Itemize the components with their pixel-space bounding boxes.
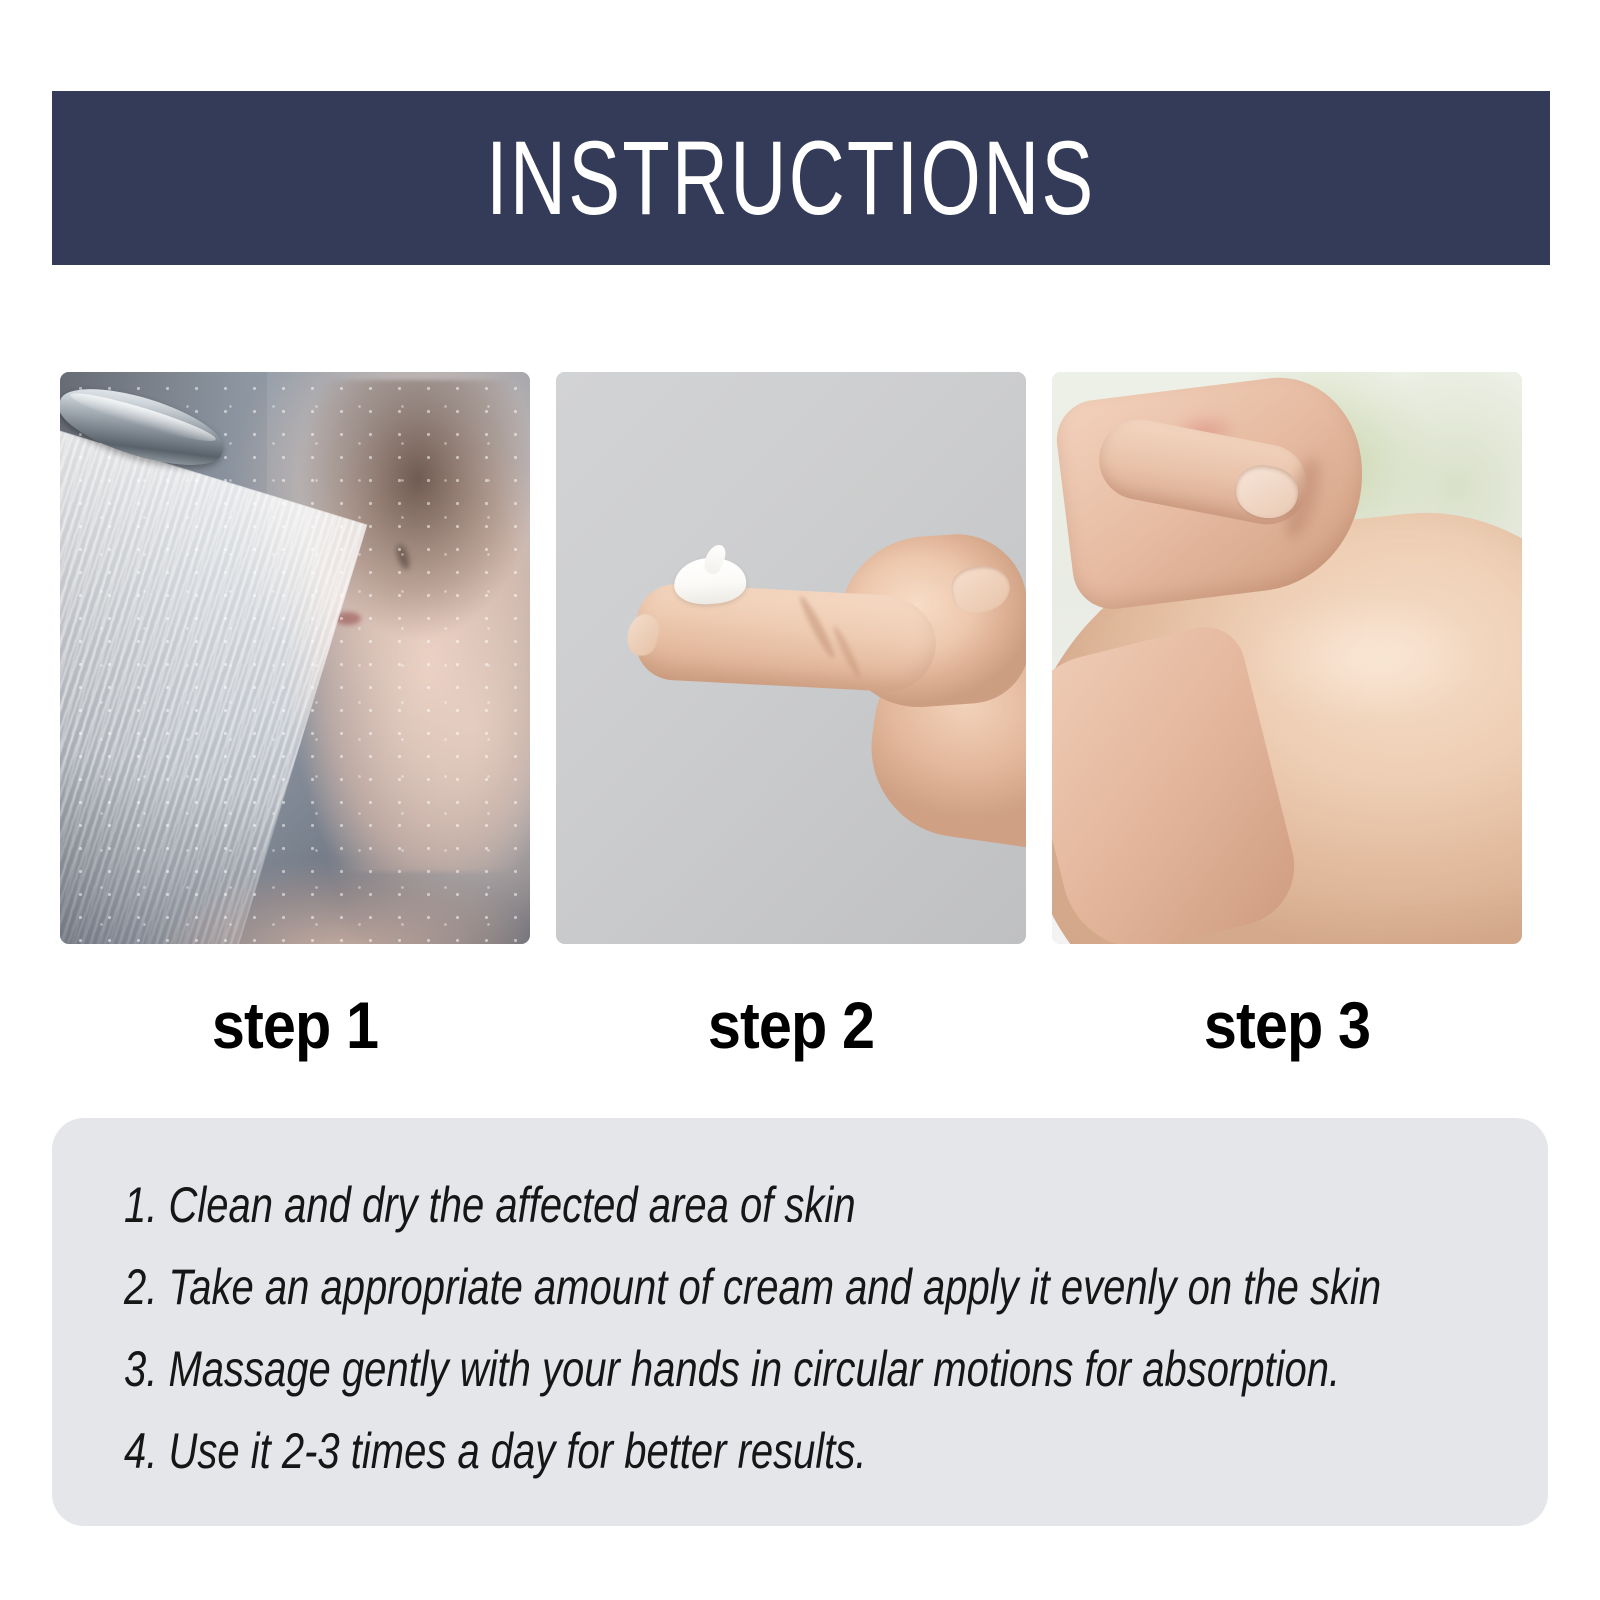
- instructions-infographic: INSTRUCTIONS: [0, 0, 1600, 1600]
- step-image-row: [60, 372, 1530, 944]
- step-1-label: step 1: [84, 985, 507, 1065]
- hand: [622, 530, 1026, 830]
- step-1-image-card: [60, 372, 530, 944]
- instruction-item-2: 2. Take an appropriate amount of cream a…: [124, 1246, 1239, 1328]
- instruction-item-1: 1. Clean and dry the affected area of sk…: [124, 1164, 1239, 1246]
- header-bar: INSTRUCTIONS: [52, 91, 1550, 265]
- cream-on-finger-photo: [556, 372, 1026, 944]
- instructions-list: 1. Clean and dry the affected area of sk…: [124, 1164, 1518, 1492]
- step-2-image-card: [556, 372, 1026, 944]
- instruction-item-3: 3. Massage gently with your hands in cir…: [124, 1328, 1239, 1410]
- page-title: INSTRUCTIONS: [486, 126, 1095, 231]
- instruction-item-4: 4. Use it 2-3 times a day for better res…: [124, 1410, 1239, 1492]
- index-finger: [634, 582, 939, 694]
- instructions-panel: 1. Clean and dry the affected area of sk…: [52, 1118, 1548, 1526]
- massage-skin-photo: [1052, 372, 1522, 944]
- shower-photo: [60, 372, 530, 944]
- step-3-label: step 3: [1076, 985, 1499, 1065]
- step-label-row: step 1 step 2 step 3: [60, 985, 1530, 1065]
- water-droplets: [60, 372, 530, 944]
- step-2-label: step 2: [580, 985, 1003, 1065]
- step-3-image-card: [1052, 372, 1522, 944]
